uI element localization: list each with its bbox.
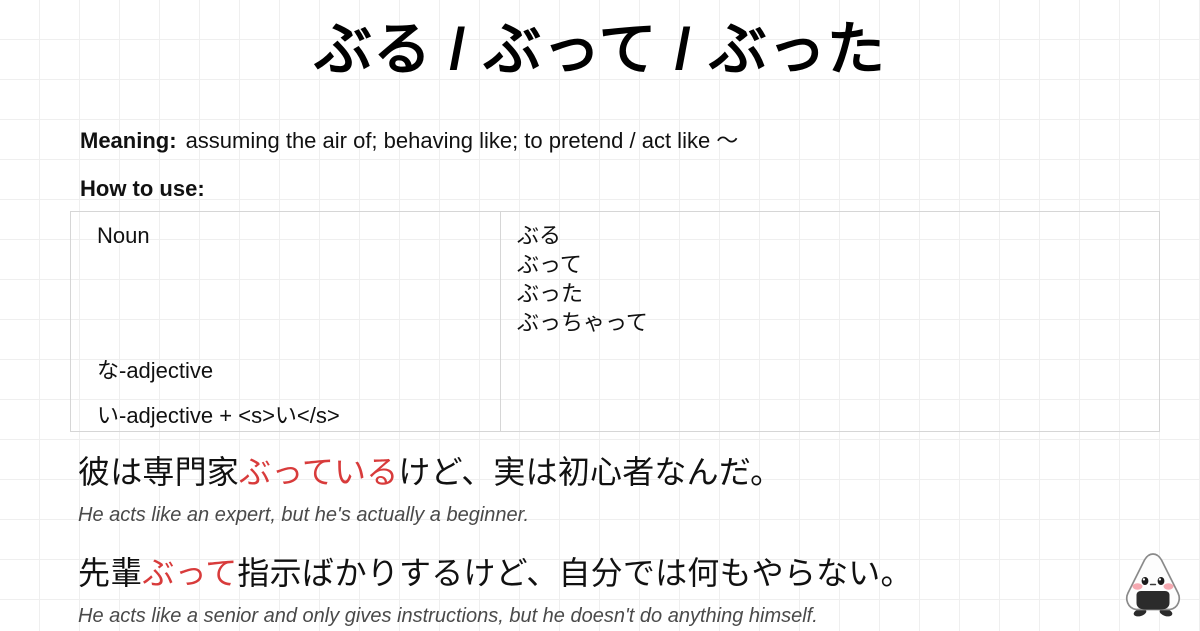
- onigiri-mascot-icon: [1118, 548, 1188, 622]
- grammar-card: ぶる / ぶって / ぶった Meaning:assuming the air …: [0, 0, 1200, 630]
- meaning-label: Meaning:: [80, 128, 177, 153]
- meaning-row: Meaning:assuming the air of; behaving li…: [80, 124, 738, 158]
- table-row: ぶって: [517, 250, 1159, 279]
- example-text-after: けど、実は初心者なんだ。: [398, 454, 782, 490]
- page-title: ぶる / ぶって / ぶった: [0, 14, 1200, 86]
- table-row: い-adjective + <s>い</s>: [97, 401, 500, 430]
- how-to-use-label: How to use:: [80, 174, 205, 204]
- example-translation: He acts like a senior and only gives ins…: [78, 601, 1138, 631]
- meaning-text: assuming the air of; behaving like; to p…: [186, 128, 739, 153]
- example-translation: He acts like an expert, but he's actuall…: [78, 500, 1138, 530]
- table-row: ぶっちゃって: [517, 308, 1159, 337]
- example-japanese: 先輩ぶって指示ばかりするけど、自分では何もやらない。: [78, 551, 1138, 595]
- usage-table: Noun な-adjective い-adjective + <s>い</s> …: [70, 211, 1160, 432]
- example-grammar-highlight: ぶっている: [239, 454, 398, 490]
- table-row: な-adjective: [97, 356, 500, 385]
- usage-table-attachments-column: Noun な-adjective い-adjective + <s>い</s>: [71, 212, 500, 431]
- example-1: 彼は専門家ぶっているけど、実は初心者なんだ。 He acts like an e…: [78, 450, 1138, 530]
- example-2: 先輩ぶって指示ばかりするけど、自分では何もやらない。 He acts like …: [78, 551, 1138, 631]
- example-japanese: 彼は専門家ぶっているけど、実は初心者なんだ。: [78, 450, 1138, 494]
- example-text-before: 彼は専門家: [78, 454, 239, 490]
- table-row: ぶる: [517, 221, 1159, 250]
- example-text-before: 先輩: [78, 555, 142, 591]
- example-text-after: 指示ばかりするけど、自分では何もやらない。: [237, 555, 912, 591]
- table-row: ぶった: [517, 279, 1159, 308]
- table-row: Noun: [97, 221, 500, 250]
- usage-table-forms-column: ぶる ぶって ぶった ぶっちゃって: [501, 212, 1159, 431]
- example-grammar-highlight: ぶって: [142, 555, 237, 591]
